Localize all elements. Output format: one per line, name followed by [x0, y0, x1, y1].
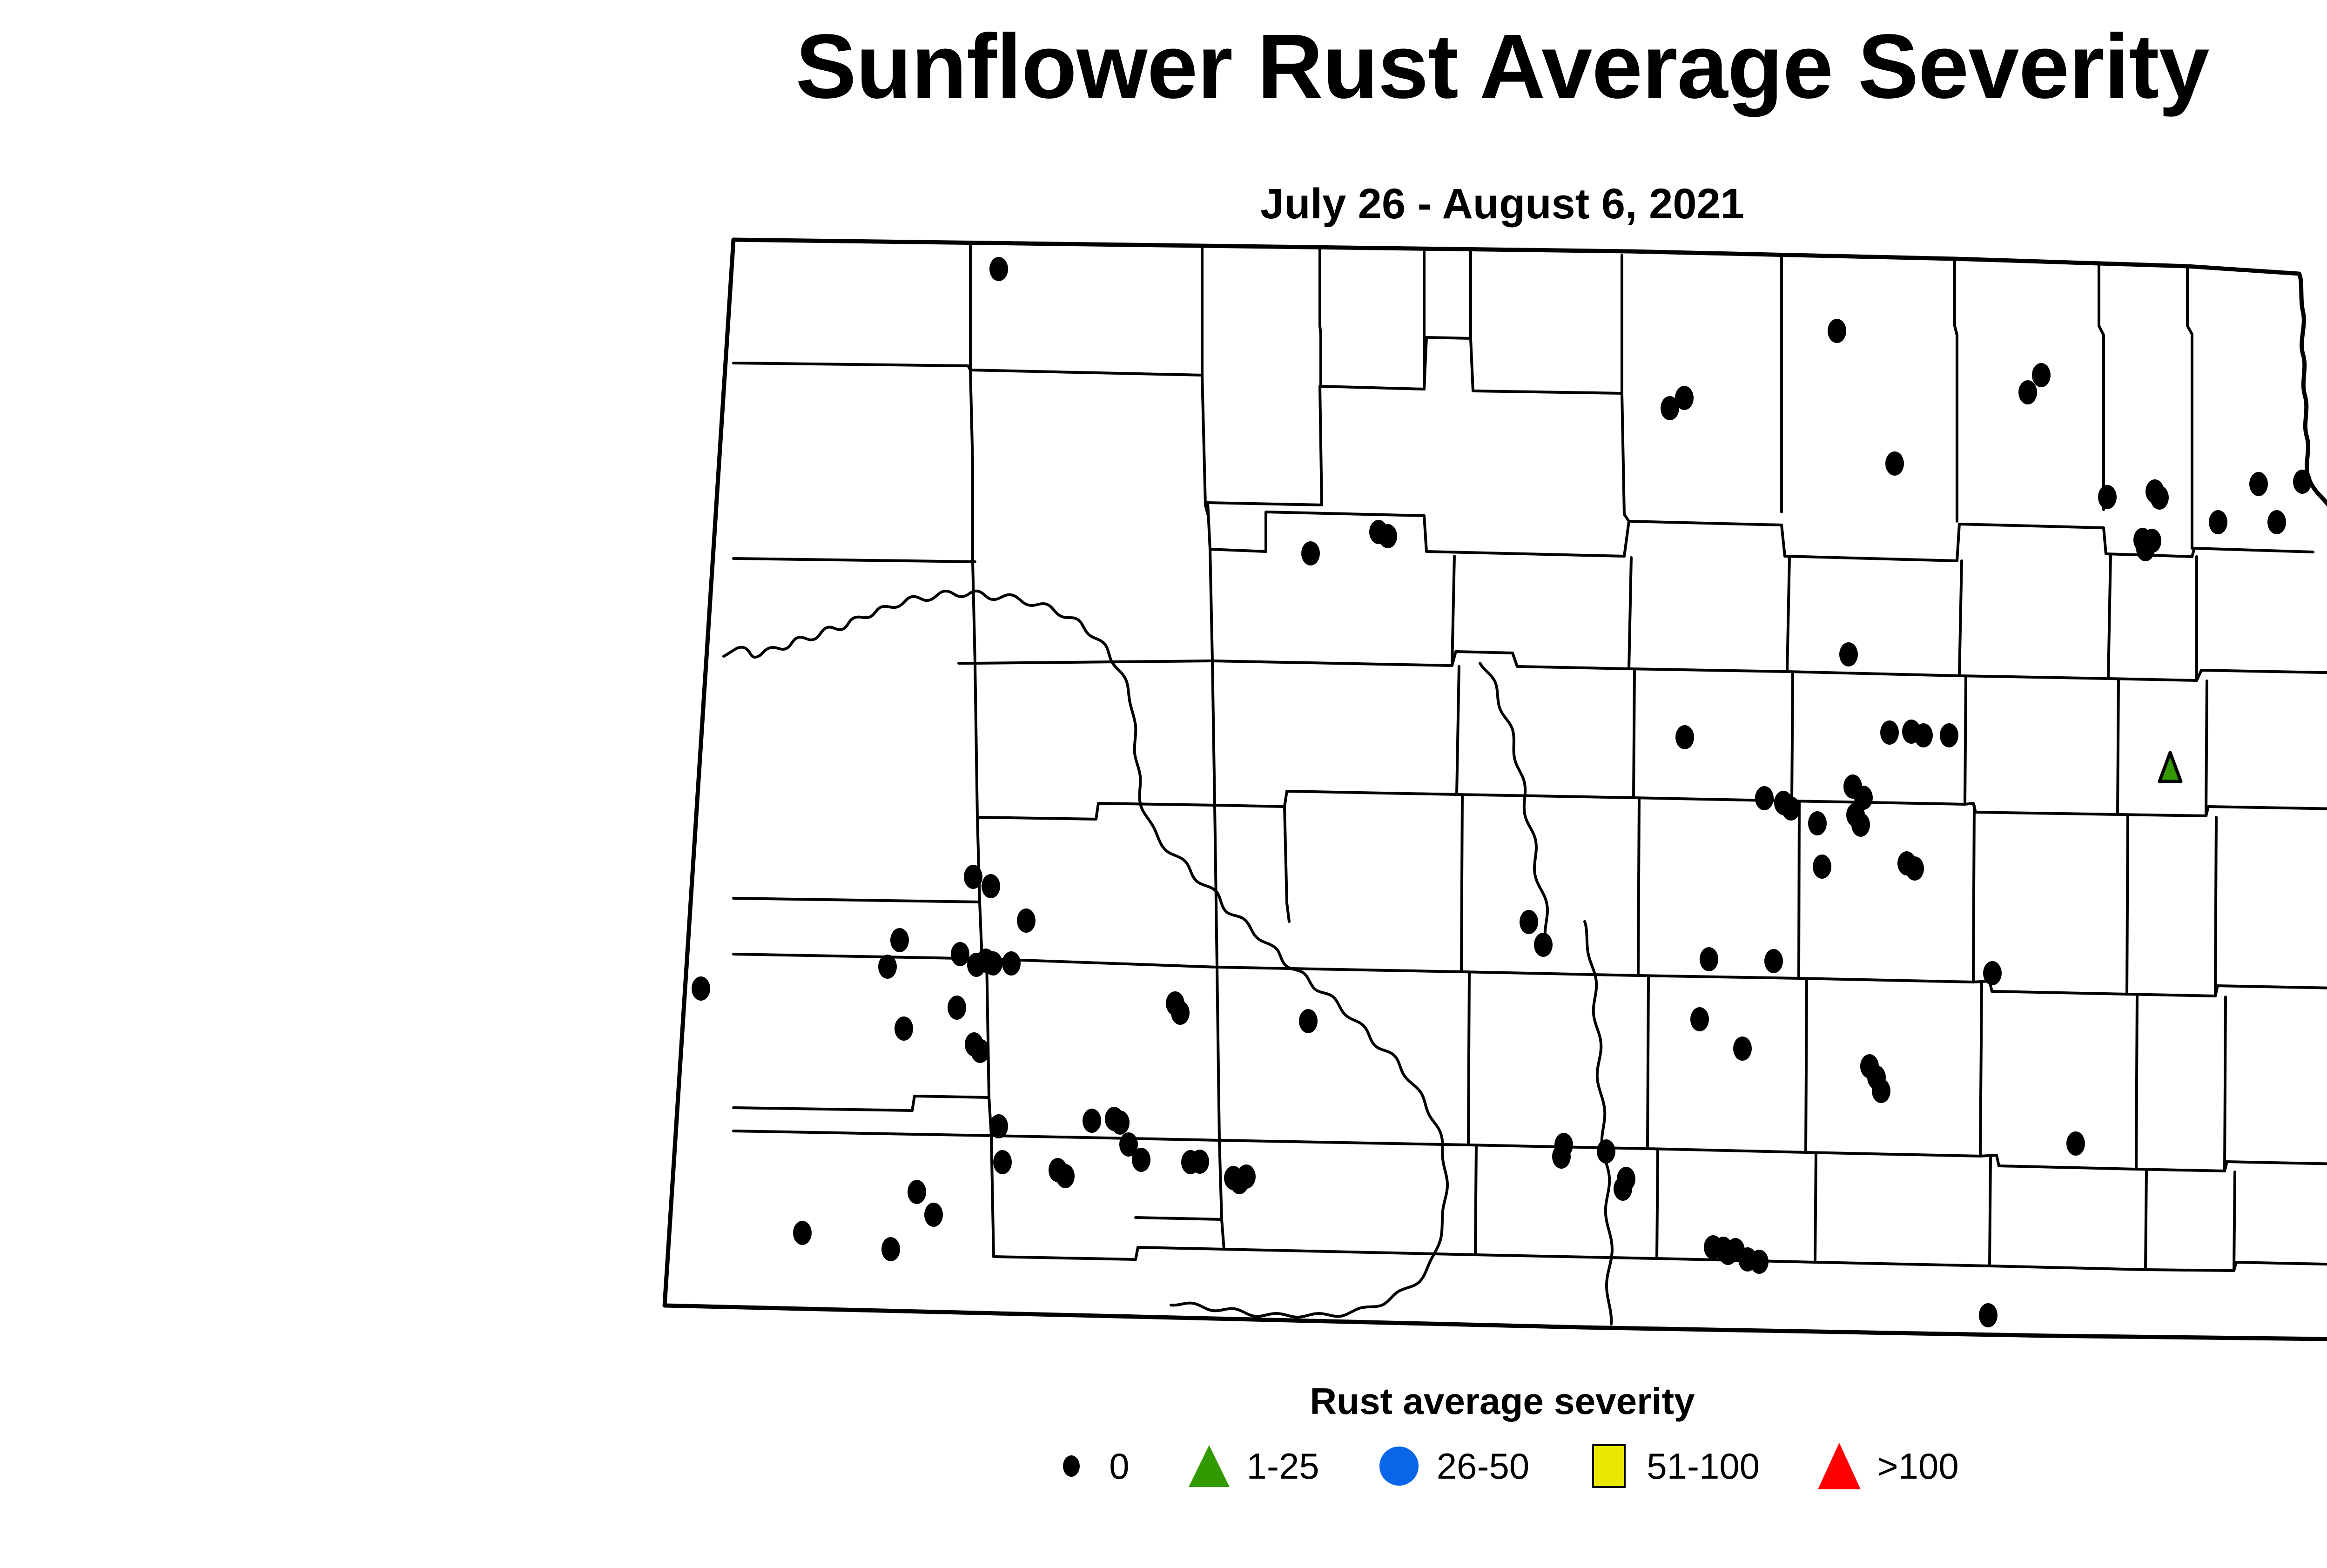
legend-item-label: 51-100 [1647, 1448, 1760, 1484]
data-point-zero [1132, 1148, 1150, 1172]
legend-item-label: 1-25 [1247, 1448, 1319, 1484]
legend-item-label: 0 [1109, 1448, 1129, 1484]
data-point-zero [1520, 910, 1538, 934]
red-triangle-icon-shape [1818, 1443, 1861, 1489]
data-point-zero [1597, 1139, 1615, 1164]
data-point-zero [1914, 723, 1933, 747]
legend-item: 26-50 [1373, 1440, 1530, 1492]
data-point-zero [984, 951, 1002, 976]
black-dot-icon-shape [1063, 1455, 1080, 1477]
legend-title: Rust average severity [0, 1380, 2327, 1423]
data-point-zero [1690, 1007, 1709, 1031]
data-point-zero [1056, 1164, 1075, 1188]
legend-item-label: >100 [1877, 1448, 1959, 1484]
yellow-square-icon-shape [1592, 1444, 1626, 1488]
data-point-zero [1750, 1250, 1769, 1274]
data-point-zero [1782, 796, 1800, 821]
data-point-zero [2293, 470, 2312, 494]
green-triangle-icon [1184, 1440, 1235, 1492]
data-point-zero [1940, 723, 1958, 747]
data-point-zero [1166, 991, 1184, 1016]
data-point-zero [1614, 1177, 1632, 1201]
data-point-zero [1755, 786, 1774, 810]
data-point-zero [1002, 951, 1021, 976]
data-point-zero [2267, 510, 2286, 534]
data-point-zero [894, 1016, 913, 1041]
data-point-zero [1552, 1144, 1571, 1169]
data-point-zero [793, 1221, 812, 1245]
data-point-zero [2209, 510, 2227, 534]
data-point-zero [1301, 541, 1320, 565]
data-point-zero [908, 1180, 926, 1204]
data-point-zero [2150, 485, 2169, 510]
legend-item: 51-100 [1583, 1440, 1760, 1492]
data-point-zero [2249, 472, 2268, 496]
data-point-zero [1230, 1170, 1249, 1194]
legend: 01-2526-5051-100>100 [0, 1440, 2327, 1492]
data-point-zero [1111, 1110, 1130, 1135]
data-point-zero [1675, 386, 1694, 410]
data-point-zero [1885, 451, 1904, 476]
data-point-zero [1851, 813, 1870, 837]
data-point-zero [1839, 642, 1858, 666]
data-point-zero [951, 942, 969, 966]
north-dakota-county-map [0, 0, 2327, 1568]
legend-item-label: 26-50 [1437, 1448, 1530, 1484]
data-point-zero [1700, 947, 1718, 971]
red-triangle-icon [1814, 1440, 1865, 1492]
data-point-zero [1983, 961, 2002, 985]
map-page: Sunflower Rust Average Severity July 26 … [0, 0, 2327, 1568]
data-point-zero [878, 955, 897, 979]
data-point-zero [1733, 1036, 1752, 1061]
data-point-zero [1880, 720, 1899, 745]
green-triangle-icon-shape [1189, 1445, 1230, 1487]
data-point-zero [2032, 363, 2051, 387]
data-point-zero [1764, 949, 1783, 973]
data-point-zero [1190, 1150, 1209, 1174]
data-point-zero [989, 257, 1008, 281]
data-point-zero [2066, 1131, 2085, 1156]
yellow-square-icon [1583, 1440, 1634, 1492]
data-point-zero [924, 1203, 943, 1227]
data-point-zero [2098, 485, 2117, 509]
blue-circle-icon [1373, 1440, 1425, 1492]
data-point-zero [1534, 933, 1553, 957]
data-point-zero [1083, 1109, 1101, 1133]
data-point-zero [948, 996, 966, 1020]
data-point-zero [2018, 380, 2037, 404]
data-point-zero [971, 1039, 989, 1063]
data-point-zero [1905, 856, 1924, 881]
data-point-zero [1813, 855, 1831, 879]
data-point-zero [2136, 537, 2155, 561]
black-dot-icon [1046, 1440, 1097, 1492]
data-point-zero [1828, 319, 1846, 343]
data-point-zero [1379, 524, 1397, 548]
data-point-zero [881, 1237, 900, 1261]
legend-item: 0 [1046, 1440, 1129, 1492]
legend-item: 1-25 [1184, 1440, 1319, 1492]
data-point-zero [1675, 725, 1694, 749]
data-point-zero [989, 1114, 1008, 1138]
data-point-zero [982, 874, 1000, 898]
data-point-zero [692, 976, 710, 1001]
data-point-zero [1017, 908, 1036, 933]
blue-circle-icon-shape [1379, 1447, 1419, 1486]
data-point-zero [1299, 1009, 1318, 1033]
data-point-zero [1808, 811, 1827, 835]
data-point-zero [890, 928, 909, 952]
legend-item: >100 [1814, 1440, 1959, 1492]
data-point-zero [1872, 1079, 1890, 1103]
county-boundaries [665, 240, 2327, 1341]
data-point-zero [964, 865, 982, 889]
data-point-zero [1979, 1303, 1997, 1327]
state-outline [665, 240, 2327, 1341]
data-point-zero [993, 1150, 1012, 1174]
